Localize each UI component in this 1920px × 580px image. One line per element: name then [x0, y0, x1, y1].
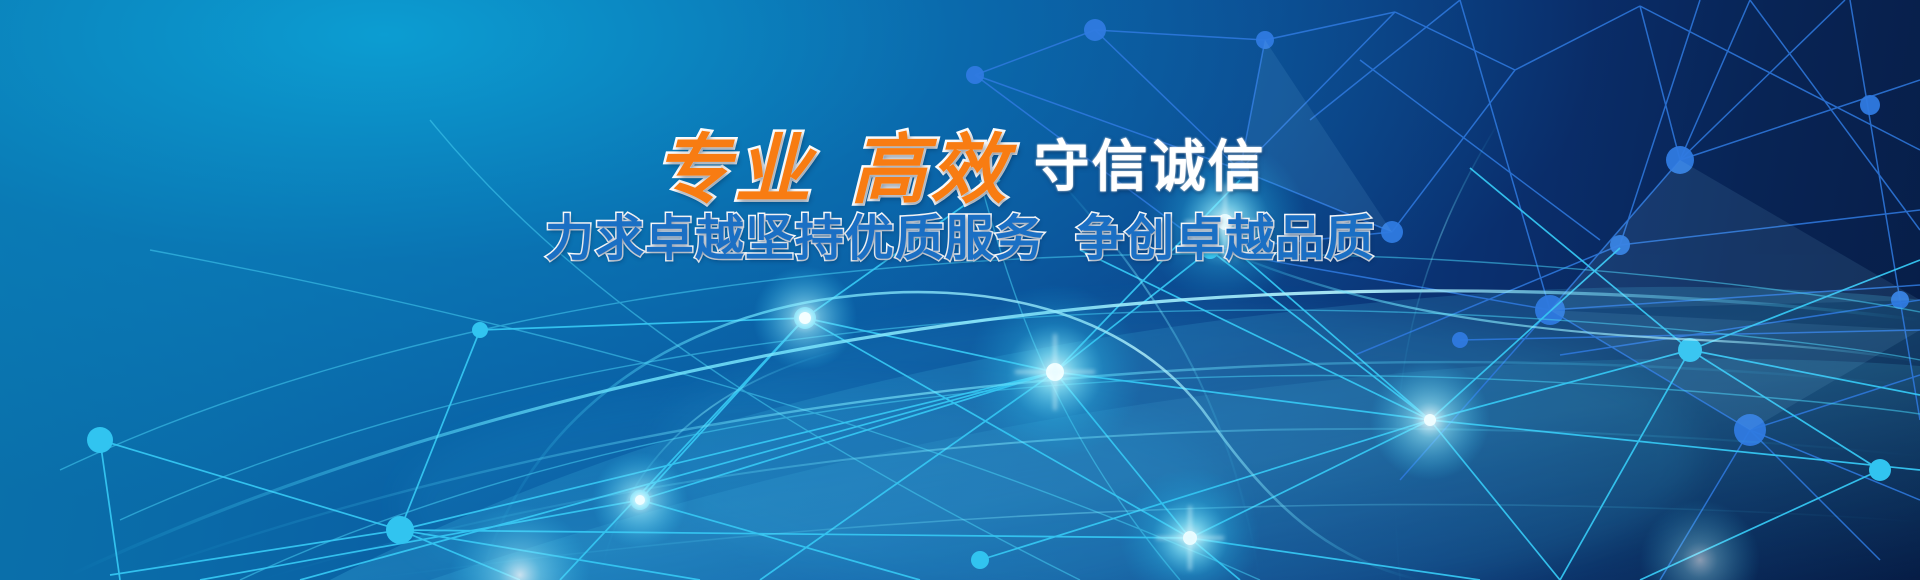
headline-line-2: 力求卓越坚持优质服务 争创卓越品质 [0, 214, 1920, 263]
subslogan-part-2: 争创卓越品质 [1075, 210, 1375, 267]
headline-line-1: 专业 高效 守信诚信 [0, 132, 1920, 208]
slogan-brush-2: 高效 [851, 125, 1011, 214]
network-graphics [0, 0, 1920, 580]
headline-block: 专业 高效 守信诚信 力求卓越坚持优质服务 争创卓越品质 [0, 132, 1920, 263]
slogan-white-bold: 守信诚信 [1034, 135, 1266, 200]
hero-banner: 专业 高效 守信诚信 力求卓越坚持优质服务 争创卓越品质 [0, 0, 1920, 580]
subslogan-part-1: 力求卓越坚持优质服务 [545, 210, 1045, 267]
slogan-brush-1: 专业 [654, 125, 814, 214]
